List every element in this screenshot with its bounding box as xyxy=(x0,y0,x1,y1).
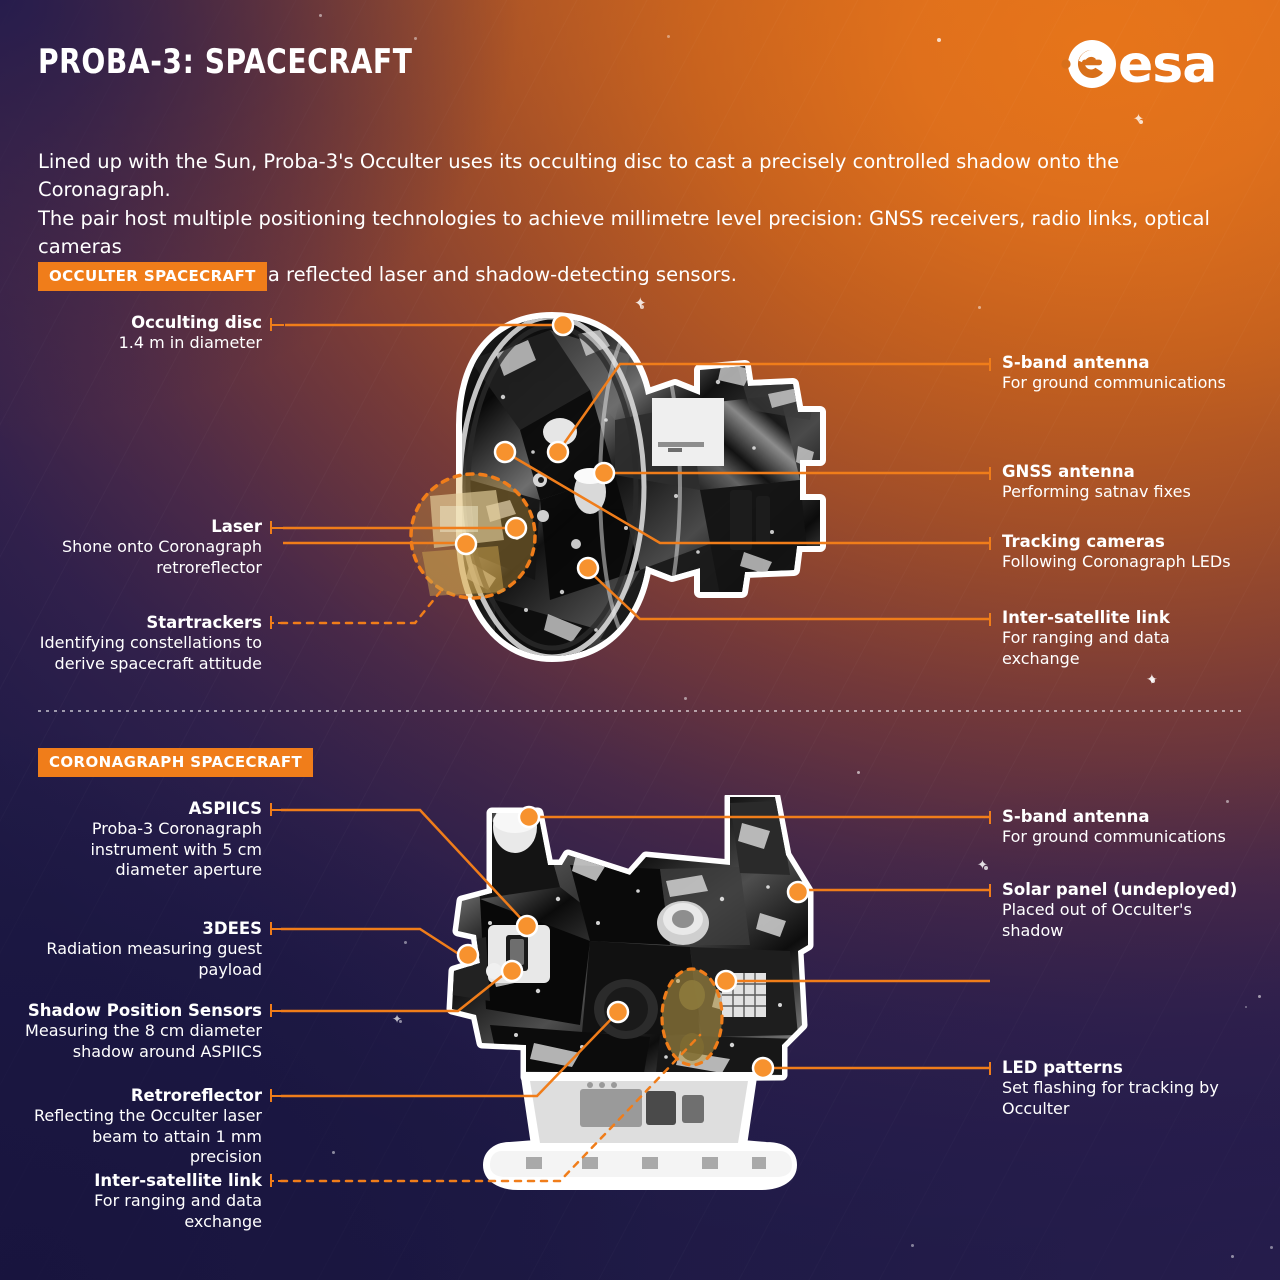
callout-subtitle: Set flashing for tracking by Occulter xyxy=(1002,1078,1258,1119)
callout-tracking-cameras: Tracking cameras Following Coronagraph L… xyxy=(1002,531,1252,573)
esa-logo: esa xyxy=(1044,28,1244,100)
callout-title: Inter-satellite link xyxy=(16,1170,262,1191)
tick-3dees xyxy=(270,928,284,930)
callout-3dees: 3DEES Radiation measuring guest payload xyxy=(40,918,262,980)
tick-cap-aspiics xyxy=(270,803,272,816)
callout-title: S-band antenna xyxy=(1002,806,1258,827)
callout-title: S-band antenna xyxy=(1002,352,1252,373)
tick-isl-coronagraph xyxy=(270,1180,284,1182)
callout-s-band-antenna-occulter: S-band antenna For ground communications xyxy=(1002,352,1252,394)
tick-cap-tracking-cameras xyxy=(989,537,991,550)
tick-aspiics xyxy=(270,809,284,811)
sparkle-icon: ✦ xyxy=(1146,672,1158,686)
coronagraph-spacecraft-image xyxy=(430,795,850,1210)
page-title: PROBA-3: SPACECRAFT xyxy=(38,42,412,82)
sparkle-icon: ✦ xyxy=(977,858,988,871)
tick-occulting-disc xyxy=(270,324,284,326)
callout-subtitle: For ground communications xyxy=(1002,373,1252,393)
callout-title: ASPIICS xyxy=(40,798,262,819)
callout-laser: Laser Shone onto Coronagraph retroreflec… xyxy=(20,516,262,578)
callout-subtitle: Proba-3 Coronagraph instrument with 5 cm… xyxy=(40,819,262,880)
callout-startrackers: Startrackers Identifying constellations … xyxy=(10,612,262,674)
callout-subtitle: 1.4 m in diameter xyxy=(20,333,262,353)
callout-title: Occulting disc xyxy=(20,312,262,333)
laser-highlight-region xyxy=(411,474,535,598)
section-banner-occulter: OCCULTER SPACECRAFT xyxy=(38,262,267,291)
callout-title: Laser xyxy=(20,516,262,537)
tick-cap-gnss xyxy=(989,467,991,480)
section-banner-coronagraph: CORONAGRAPH SPACECRAFT xyxy=(38,748,313,777)
callout-title: Solar panel (undeployed) xyxy=(1002,879,1258,900)
callout-aspiics: ASPIICS Proba-3 Coronagraph instrument w… xyxy=(40,798,262,881)
tick-shadow-position-sensors xyxy=(270,1010,284,1012)
tick-cap-s-band-coronagraph xyxy=(989,811,991,824)
callout-gnss-antenna: GNSS antenna Performing satnav fixes xyxy=(1002,461,1252,503)
callout-subtitle: Following Coronagraph LEDs xyxy=(1002,552,1252,572)
tick-cap-s-band-occulter xyxy=(989,358,991,371)
callout-title: Tracking cameras xyxy=(1002,531,1252,552)
tick-cap-solar-panel xyxy=(989,884,991,897)
callout-title: GNSS antenna xyxy=(1002,461,1252,482)
callout-subtitle: Performing satnav fixes xyxy=(1002,482,1252,502)
callout-title: Shadow Position Sensors xyxy=(16,1000,262,1021)
sparkle-icon: ✦ xyxy=(1133,112,1144,125)
tick-cap-startrackers xyxy=(270,616,272,629)
callout-subtitle: For ranging and data exchange xyxy=(1002,628,1252,669)
section-divider xyxy=(38,710,1242,712)
tick-cap-sps xyxy=(270,1004,272,1017)
callout-title: Inter-satellite link xyxy=(1002,607,1252,628)
tick-laser xyxy=(270,527,284,529)
callout-subtitle: Reflecting the Occulter laser beam to at… xyxy=(16,1106,262,1167)
sparkle-icon: ✦ xyxy=(392,1013,402,1025)
callout-led-patterns: LED patterns Set flashing for tracking b… xyxy=(1002,1057,1258,1119)
intro-line-2: The pair host multiple positioning techn… xyxy=(38,205,1248,262)
callout-subtitle: Shone onto Coronagraph retroreflector xyxy=(20,537,262,578)
tick-cap-isl-coronagraph xyxy=(270,1174,272,1187)
callout-s-band-antenna-coronagraph: S-band antenna For ground communications xyxy=(1002,806,1258,848)
tick-cap-isl-occulter xyxy=(989,613,991,626)
tick-cap-retroreflector xyxy=(270,1089,272,1102)
esa-logo-icon: esa xyxy=(1044,28,1244,100)
infographic-page: ✦ ✦ ✦ ✦ ✦ ✦ PROBA-3: SPACECRAFT esa Line… xyxy=(0,0,1280,1280)
callout-title: Startrackers xyxy=(10,612,262,633)
tick-retroreflector xyxy=(270,1095,284,1097)
callout-subtitle: Identifying constellations to derive spa… xyxy=(10,633,262,674)
svg-text:esa: esa xyxy=(1118,35,1216,95)
intro-line-1: Lined up with the Sun, Proba-3's Occulte… xyxy=(38,148,1248,205)
callout-subtitle: Measuring the 8 cm diameter shadow aroun… xyxy=(16,1021,262,1062)
tick-cap-occulting-disc xyxy=(270,318,272,331)
tick-cap-laser xyxy=(270,521,272,534)
callout-title: 3DEES xyxy=(40,918,262,939)
retroreflector-highlight-region xyxy=(662,969,722,1065)
callout-inter-satellite-link-occulter: Inter-satellite link For ranging and dat… xyxy=(1002,607,1252,669)
tick-cap-led-patterns xyxy=(989,1062,991,1075)
tick-startrackers xyxy=(270,622,284,624)
callout-subtitle: For ranging and data exchange xyxy=(16,1191,262,1232)
launch-adapter-ring xyxy=(488,1077,792,1185)
callout-inter-satellite-link-coronagraph: Inter-satellite link For ranging and dat… xyxy=(16,1170,262,1232)
callout-subtitle: For ground communications xyxy=(1002,827,1258,847)
callout-subtitle: Placed out of Occulter's shadow xyxy=(1002,900,1258,941)
callout-shadow-position-sensors: Shadow Position Sensors Measuring the 8 … xyxy=(16,1000,262,1062)
occulter-spacecraft-image xyxy=(400,300,870,700)
callout-occulting-disc: Occulting disc 1.4 m in diameter xyxy=(20,312,262,354)
callout-solar-panel: Solar panel (undeployed) Placed out of O… xyxy=(1002,879,1258,941)
callout-title: Retroreflector xyxy=(16,1085,262,1106)
callout-subtitle: Radiation measuring guest payload xyxy=(40,939,262,980)
callout-retroreflector: Retroreflector Reflecting the Occulter l… xyxy=(16,1085,262,1168)
callout-title: LED patterns xyxy=(1002,1057,1258,1078)
tick-cap-3dees xyxy=(270,922,272,935)
